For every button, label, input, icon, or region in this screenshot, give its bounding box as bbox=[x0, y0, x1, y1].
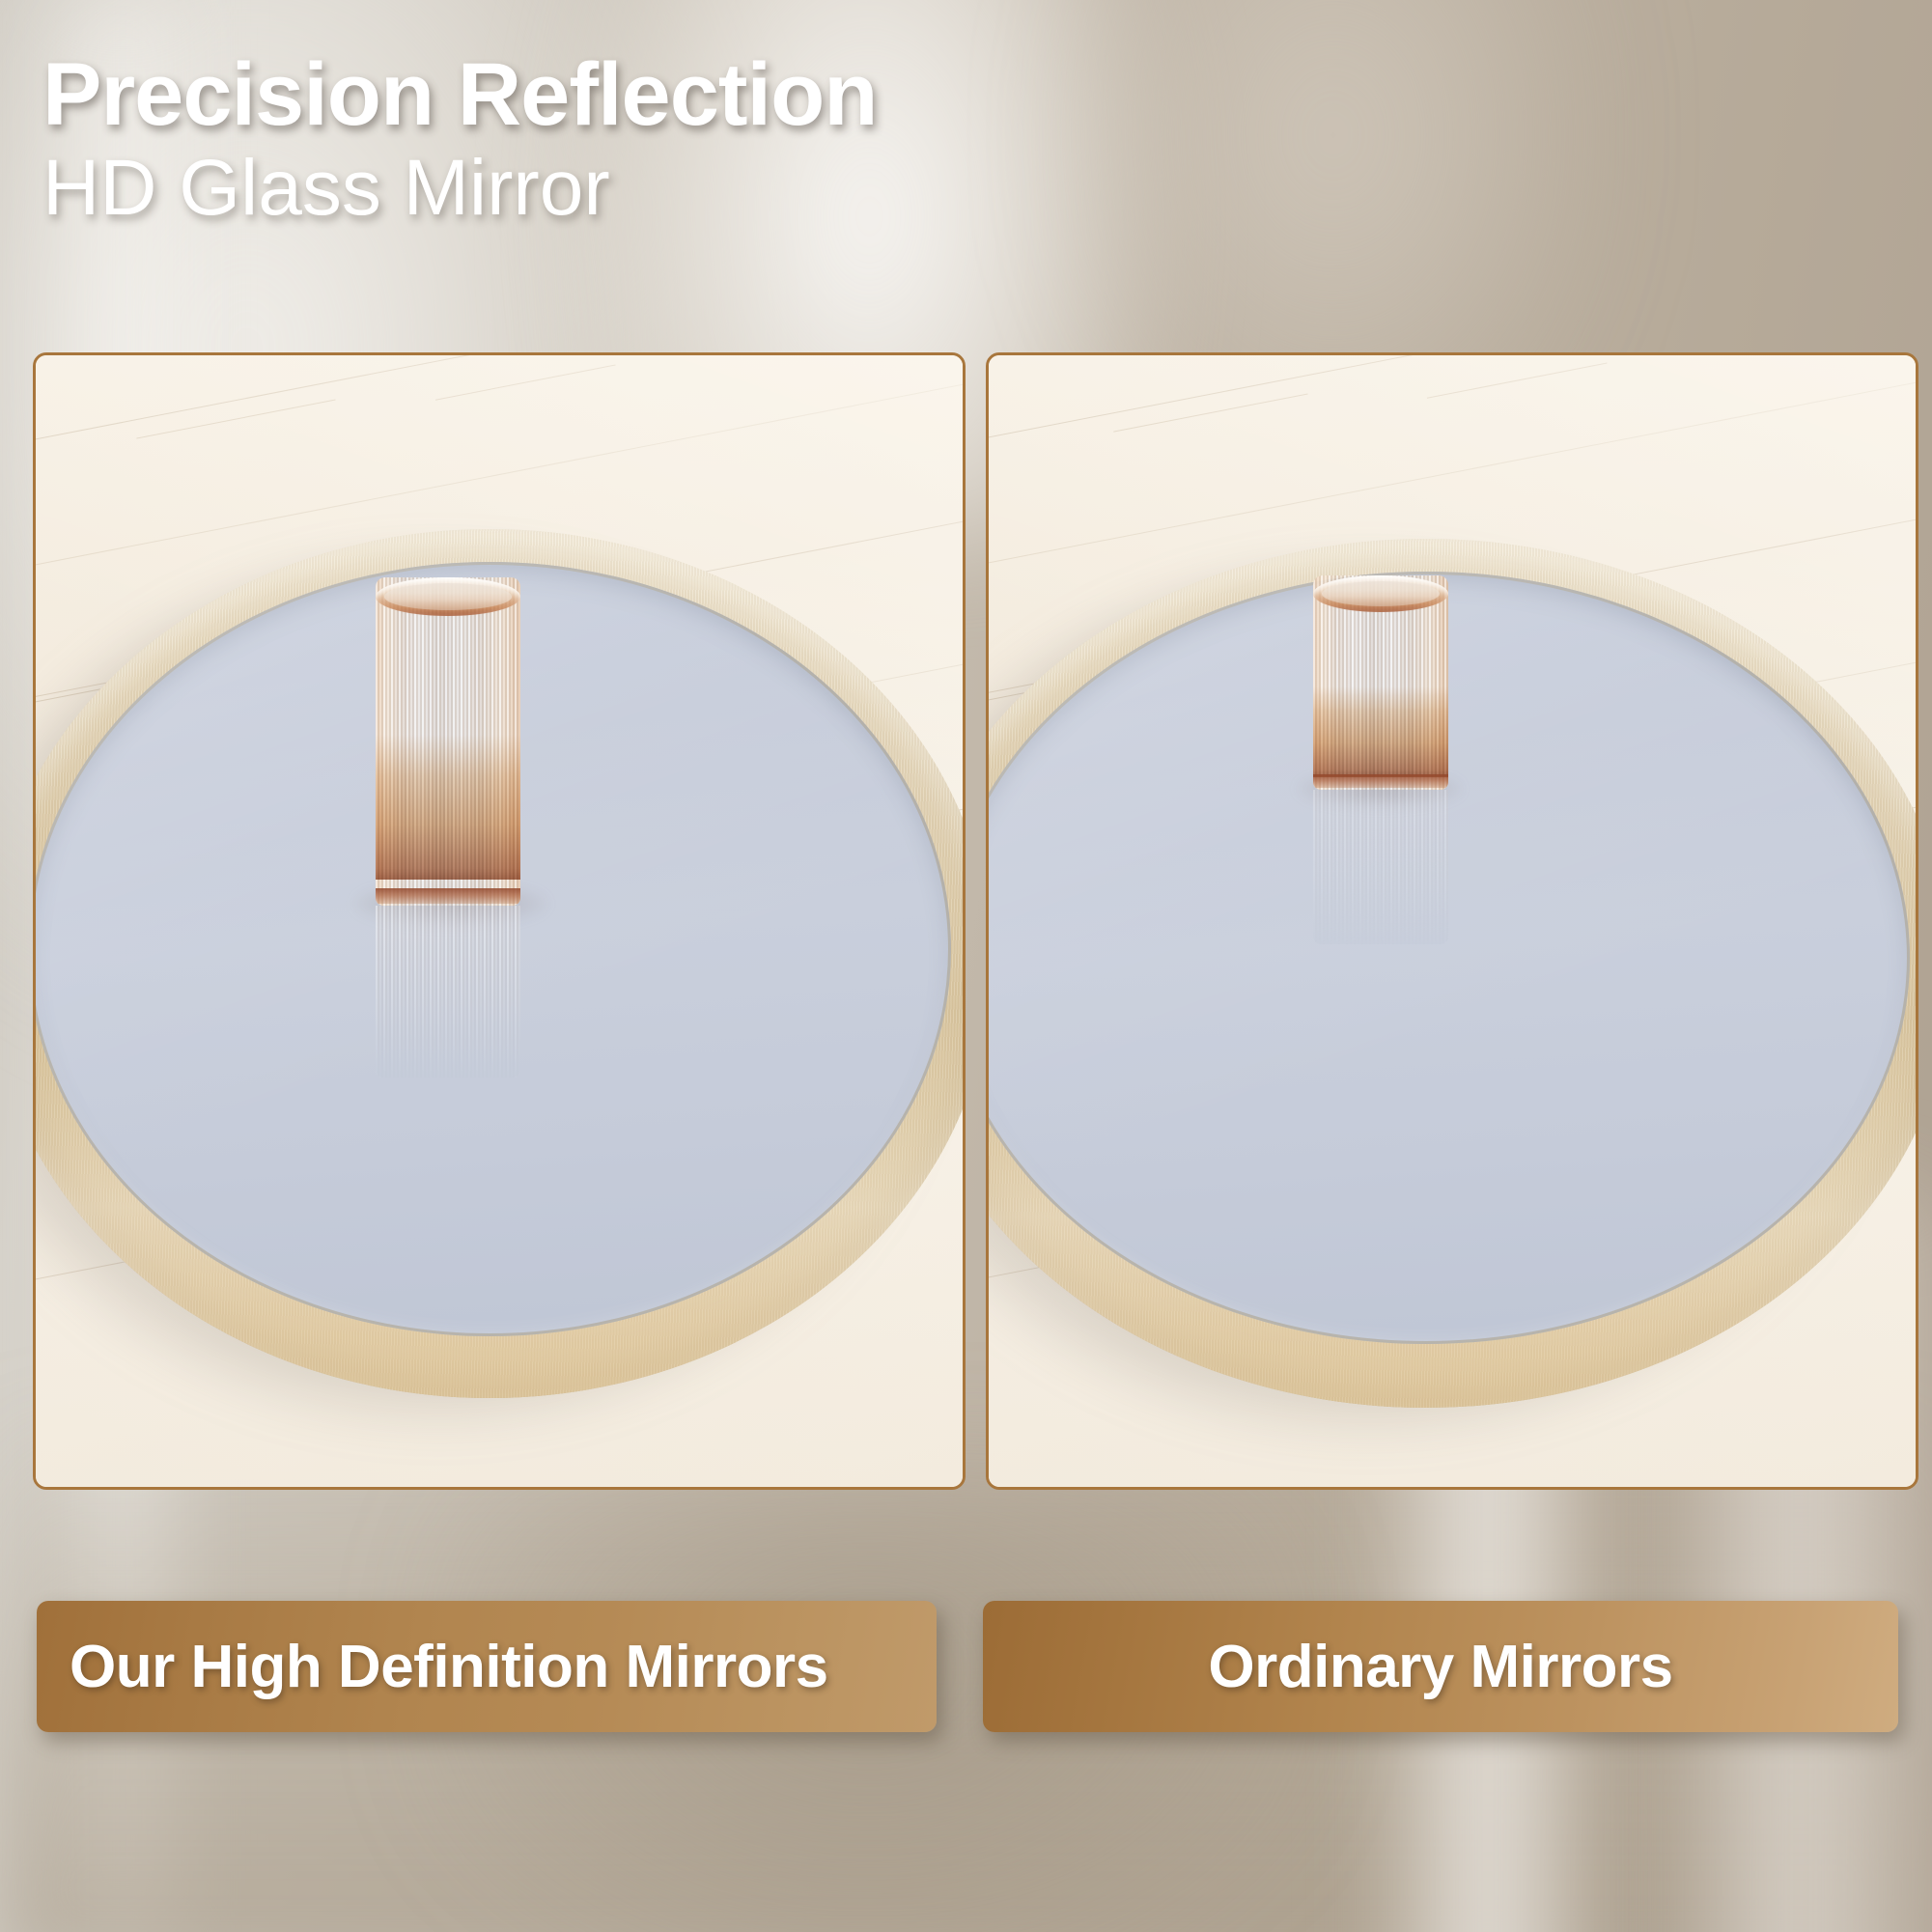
vase-reflection-hd bbox=[376, 906, 520, 1078]
vase-reflection-fade bbox=[376, 906, 520, 1078]
vase-body bbox=[376, 577, 520, 906]
vase-rim-inner bbox=[384, 583, 512, 610]
vase-top-rim bbox=[1313, 575, 1448, 612]
vase-reflection-ordinary bbox=[1313, 790, 1448, 944]
vase-base-ring bbox=[376, 888, 520, 904]
fluted-glass-vase-ordinary[interactable] bbox=[1313, 575, 1448, 790]
caption-hd-mirror: Our High Definition Mirrors bbox=[70, 1633, 828, 1701]
vase-base-ring bbox=[1313, 774, 1448, 788]
vase-amber-gradient bbox=[376, 735, 520, 880]
vase-reflection-fade bbox=[1313, 790, 1448, 944]
vase-rim-inner bbox=[1322, 581, 1440, 606]
panel-ordinary-mirror[interactable] bbox=[986, 352, 1918, 1490]
fluted-glass-vase-hd[interactable] bbox=[376, 577, 520, 906]
vase-amber-gradient bbox=[1313, 686, 1448, 776]
vase-top-rim bbox=[376, 577, 520, 616]
caption-bar-ordinary-mirror[interactable]: Ordinary Mirrors bbox=[983, 1601, 1898, 1732]
caption-bar-hd-mirror[interactable]: Our High Definition Mirrors bbox=[37, 1601, 937, 1732]
round-mirror[interactable] bbox=[986, 539, 1918, 1408]
caption-ordinary-mirror: Ordinary Mirrors bbox=[1208, 1633, 1672, 1701]
panel-hd-mirror[interactable] bbox=[33, 352, 966, 1490]
product-comparison-graphic: Precision Reflection HD Glass Mirror bbox=[0, 0, 1932, 1932]
